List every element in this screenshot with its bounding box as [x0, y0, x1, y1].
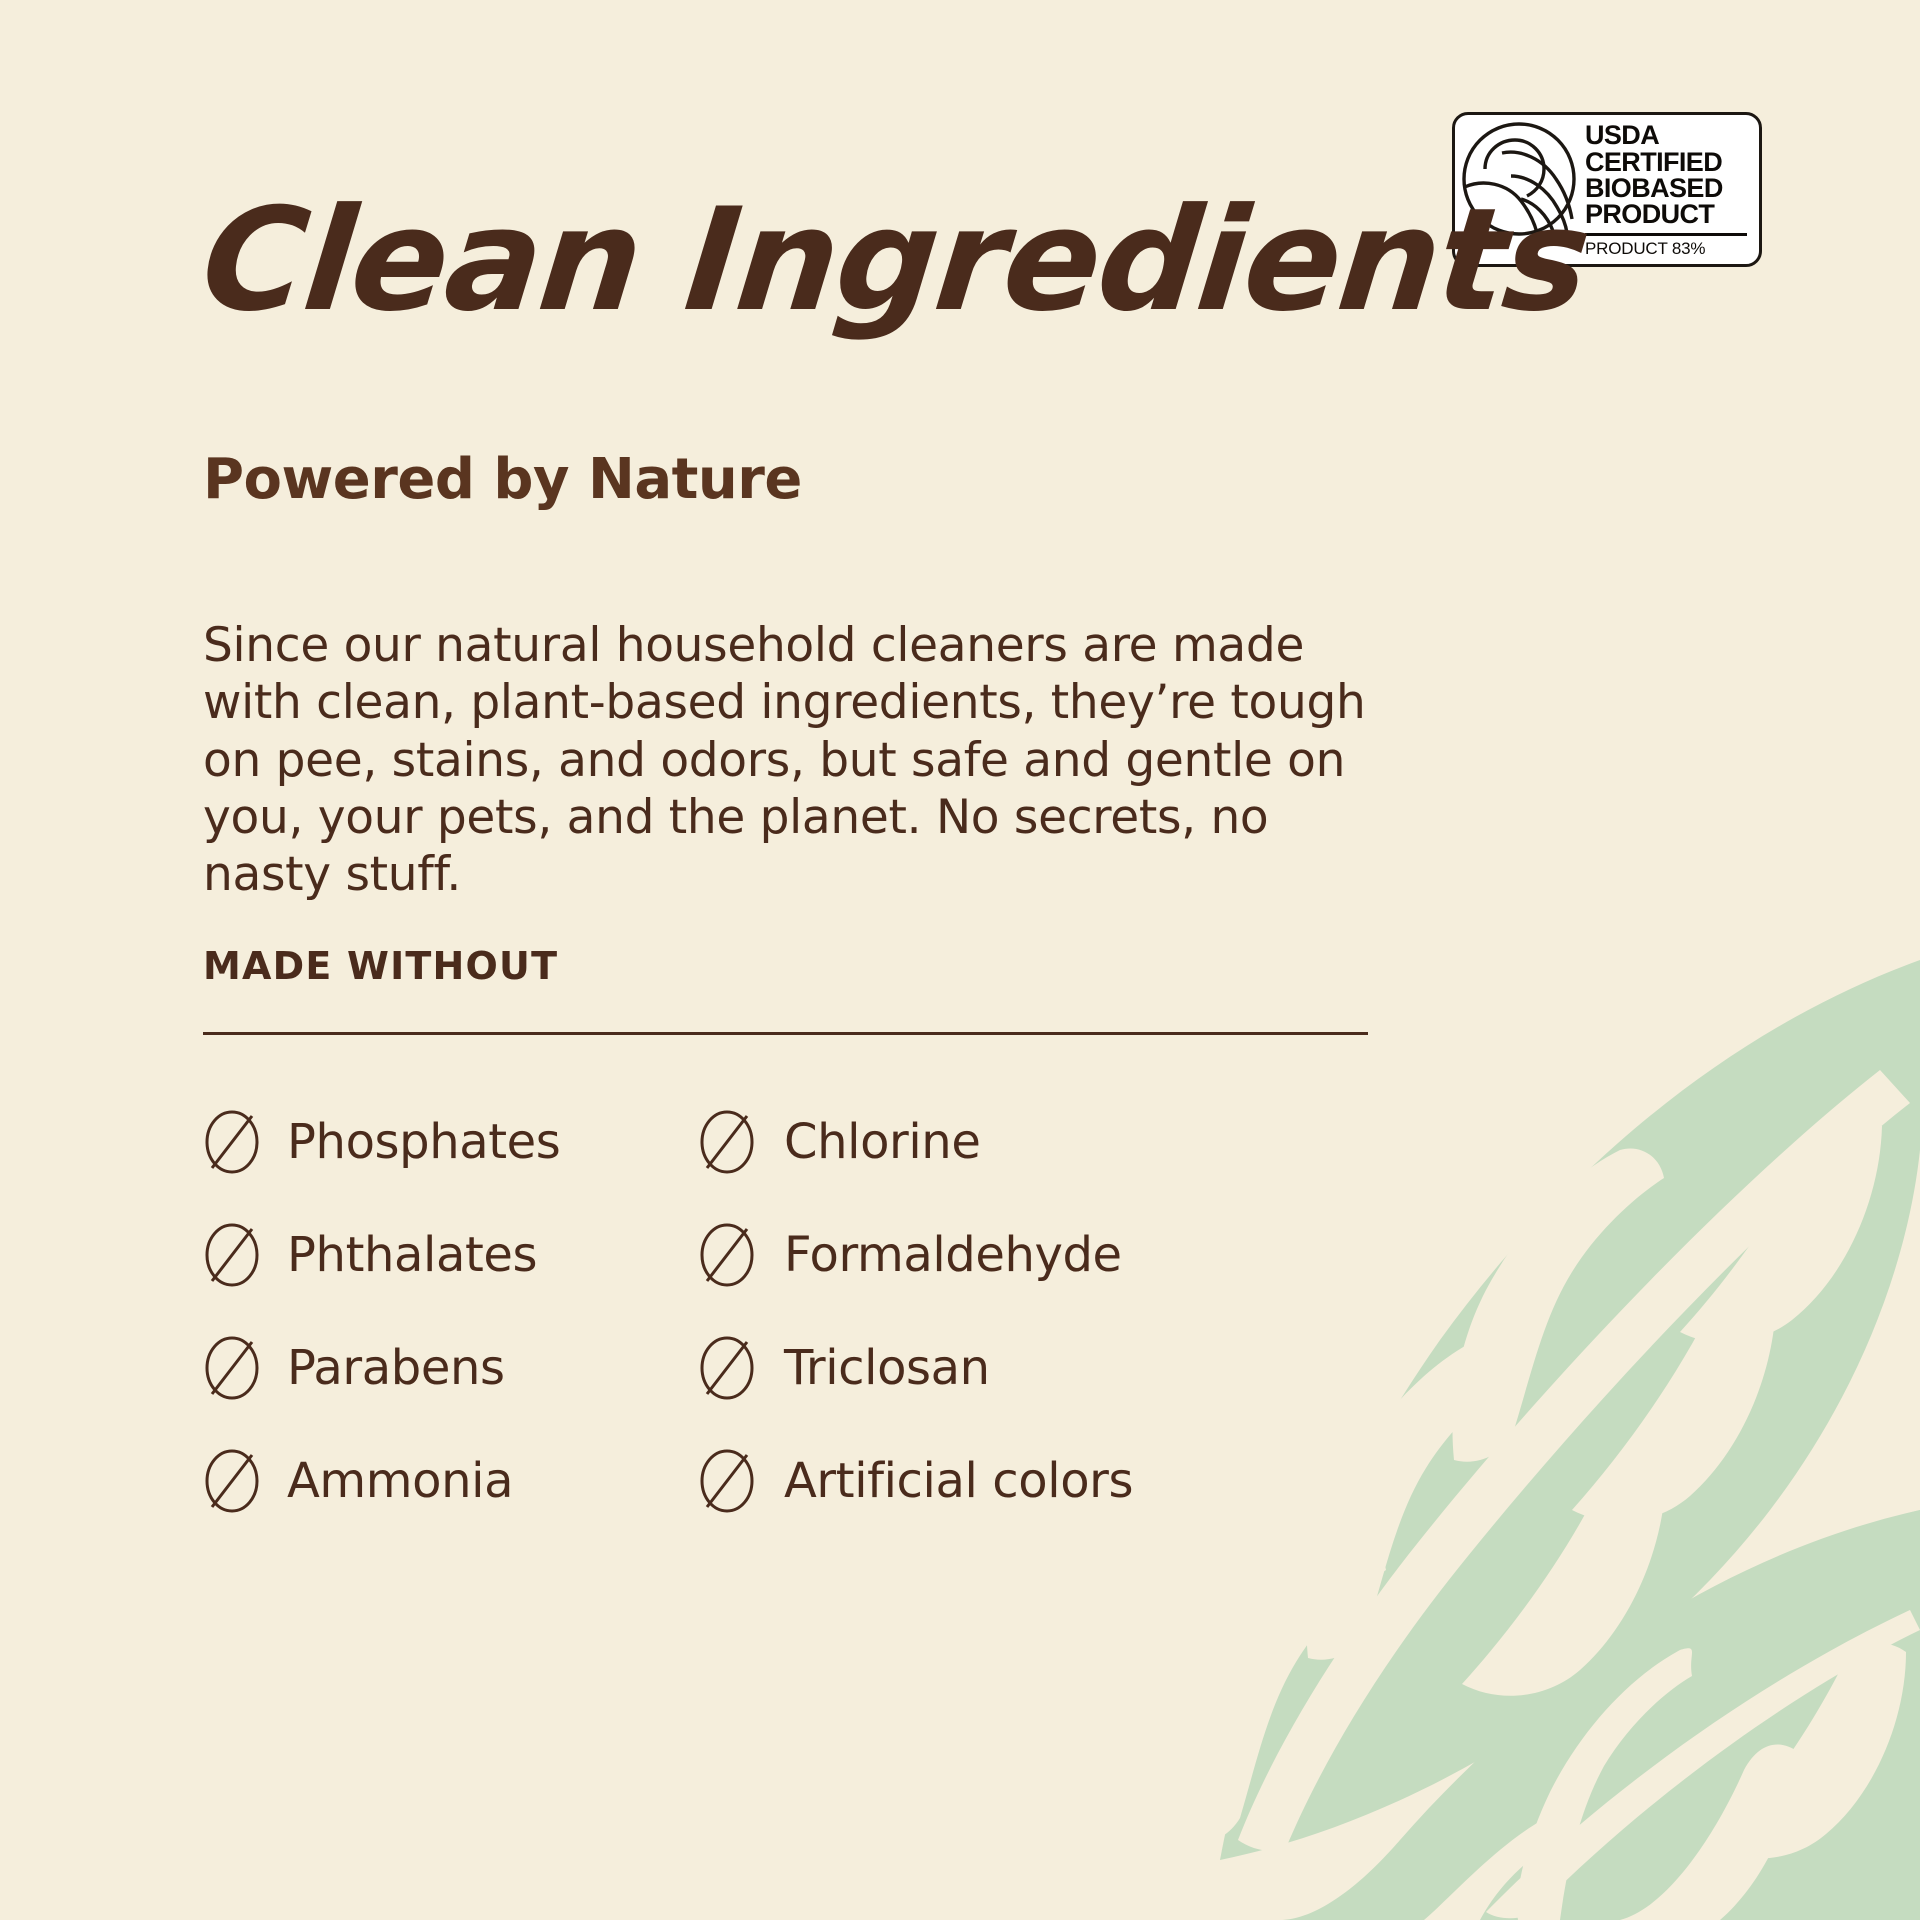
- no-slash-circle-icon: [698, 1336, 784, 1400]
- no-slash-circle-icon: [203, 1449, 287, 1513]
- no-slash-circle-icon: [698, 1110, 784, 1174]
- made-without-divider: [203, 1032, 1368, 1035]
- badge-divider: [1585, 233, 1747, 236]
- badge-text-block: USDA CERTIFIED BIOBASED PRODUCT PRODUCT …: [1583, 115, 1759, 264]
- poster-canvas: FP USDA CERTIFIED BIOBASED PRODUCT PRODU…: [0, 0, 1920, 1920]
- list-item: Parabens: [203, 1311, 698, 1424]
- list-item: Chlorine: [698, 1085, 1193, 1198]
- badge-line-product: PRODUCT: [1585, 201, 1747, 227]
- page-subtitle: Powered by Nature: [203, 452, 802, 508]
- list-item: Artificial colors: [698, 1424, 1193, 1537]
- list-item: Triclosan: [698, 1311, 1193, 1424]
- list-item-label: Chlorine: [784, 1118, 980, 1166]
- no-slash-circle-icon: [698, 1449, 784, 1513]
- list-item-label: Triclosan: [784, 1344, 990, 1392]
- no-slash-circle-icon: [698, 1223, 784, 1287]
- badge-line-certified: CERTIFIED: [1585, 149, 1747, 175]
- no-slash-circle-icon: [203, 1336, 287, 1400]
- list-item: Formaldehyde: [698, 1198, 1193, 1311]
- list-item-label: Phthalates: [287, 1231, 537, 1279]
- no-slash-circle-icon: [203, 1223, 287, 1287]
- badge-line-biobased: BIOBASED: [1585, 175, 1747, 201]
- list-item-label: Artificial colors: [784, 1457, 1133, 1505]
- list-item: Phosphates: [203, 1085, 698, 1198]
- made-without-list: Phosphates Chlorine Phthalates Formaldeh…: [203, 1085, 1383, 1537]
- list-item-label: Phosphates: [287, 1118, 560, 1166]
- list-item: Ammonia: [203, 1424, 698, 1537]
- list-item-label: Parabens: [287, 1344, 505, 1392]
- list-item-label: Formaldehyde: [784, 1231, 1122, 1279]
- made-without-heading: MADE WITHOUT: [203, 944, 558, 988]
- page-title: Clean Ingredients: [196, 190, 1595, 332]
- list-item-label: Ammonia: [287, 1457, 513, 1505]
- no-slash-circle-icon: [203, 1110, 287, 1174]
- badge-line-usda: USDA: [1585, 122, 1747, 148]
- body-paragraph: Since our natural household cleaners are…: [203, 617, 1383, 904]
- list-item: Phthalates: [203, 1198, 698, 1311]
- leaf-lower: [1280, 1510, 1920, 1920]
- badge-product-percent: PRODUCT 83%: [1585, 240, 1747, 257]
